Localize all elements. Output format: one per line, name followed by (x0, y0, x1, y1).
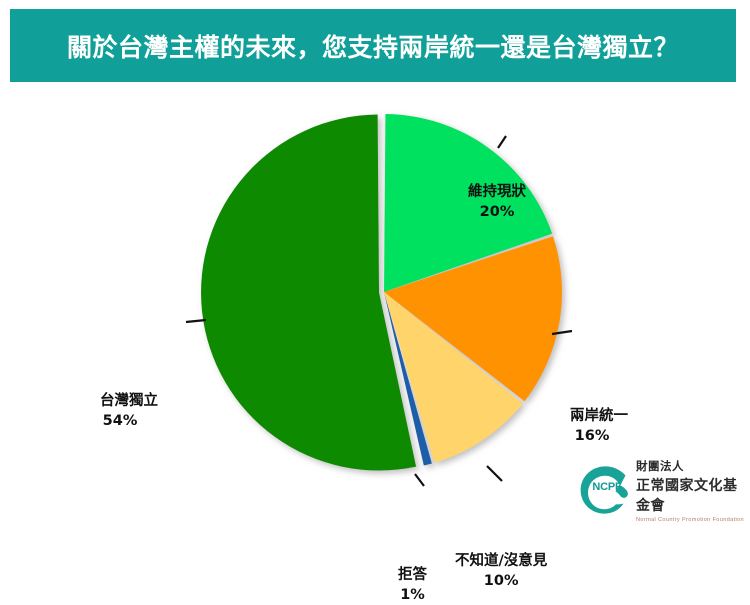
pie-label-dont-know-name: 不知道/沒意見 (455, 553, 547, 569)
leader-line-refuse (415, 474, 424, 486)
logo-org-type: 財團法人 (636, 458, 744, 474)
pie-label-refuse: 拒答 1% (398, 566, 427, 605)
ncpf-hand-circle-icon: NCPF (578, 465, 632, 515)
pie-label-independence: 台灣獨立 54% (100, 392, 158, 431)
title-band: 關於台灣主權的未來，您支持兩岸統一還是台灣獨立？ (10, 9, 736, 82)
pie-label-dont-know: 不知道/沒意見 10% (455, 552, 547, 591)
leader-line-dont-know (487, 466, 502, 481)
pie-label-independence-name: 台灣獨立 (100, 393, 158, 409)
pie-label-unification: 兩岸統一 16% (570, 407, 628, 446)
logo-org-name: 正常國家文化基金會 (636, 475, 744, 515)
pie-label-unification-name: 兩岸統一 (570, 408, 628, 424)
leader-line-status-quo (498, 136, 506, 148)
page-title: 關於台灣主權的未來，您支持兩岸統一還是台灣獨立？ (67, 28, 679, 64)
pie-label-unification-value: 16% (570, 427, 628, 447)
pie-label-status-quo-value: 20% (468, 203, 526, 223)
leader-line-independence (186, 320, 206, 322)
pie-label-refuse-value: 1% (398, 586, 427, 605)
pie-label-independence-value: 54% (100, 412, 158, 432)
organization-logo: NCPF 財團法人 正常國家文化基金會 Normal Country Promo… (578, 462, 744, 518)
slide-canvas: 關於台灣主權的未來，您支持兩岸統一還是台灣獨立？ (0, 0, 750, 535)
pie-label-refuse-name: 拒答 (398, 567, 427, 583)
logo-org-name-en: Normal Country Promotion Foundation (636, 517, 744, 523)
logo-text-block: 財團法人 正常國家文化基金會 Normal Country Promotion … (636, 458, 744, 523)
logo-wordmark: NCPF (589, 481, 625, 493)
pie-label-status-quo-name: 維持現狀 (468, 184, 526, 200)
pie-slice-independence[interactable] (201, 115, 416, 471)
pie-label-status-quo: 維持現狀 20% (468, 183, 526, 222)
pie-label-dont-know-value: 10% (455, 572, 547, 592)
